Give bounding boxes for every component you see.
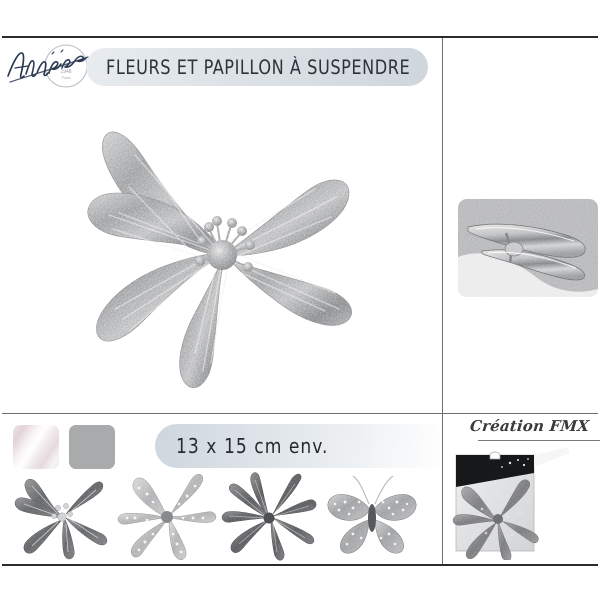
variant-pointed-flower[interactable]: [217, 472, 321, 562]
page-title: FLEURS ET PAPILLON À SUSPENDRE: [106, 52, 402, 84]
variant-dark-poinsettia[interactable]: [10, 472, 114, 562]
variant-butterfly[interactable]: [319, 472, 423, 562]
frame-bottom-border: [2, 564, 598, 566]
horizontal-divider-left: [2, 413, 442, 414]
size-label: 13 x 15 cm env.: [176, 430, 328, 462]
creation-credit-text: Création FMX: [470, 417, 590, 435]
vertical-divider: [442, 38, 443, 564]
product-sheet: 1948 Paris FLEURS ET PAPILLON À SUSPENDR…: [0, 0, 600, 600]
creation-credit-rule: [478, 440, 600, 441]
logo-stamp-line2: Paris: [61, 75, 70, 80]
colour-swatch-pearl-pink[interactable]: [13, 425, 59, 469]
colour-swatch-silver-grey[interactable]: [69, 425, 115, 469]
metal-clip-detail: [458, 199, 598, 297]
header-zone: 1948 Paris FLEURS ET PAPILLON À SUSPENDR…: [2, 38, 442, 94]
variant-thumbnail-row: [6, 472, 440, 562]
retail-blister-pack: [452, 447, 571, 560]
creation-credit: Création FMX: [470, 417, 600, 441]
horizontal-divider-right: [443, 413, 598, 414]
variant-light-flower[interactable]: [115, 472, 219, 562]
hero-product-image: [3, 95, 441, 411]
antares-logo: 1948 Paris: [4, 40, 96, 92]
